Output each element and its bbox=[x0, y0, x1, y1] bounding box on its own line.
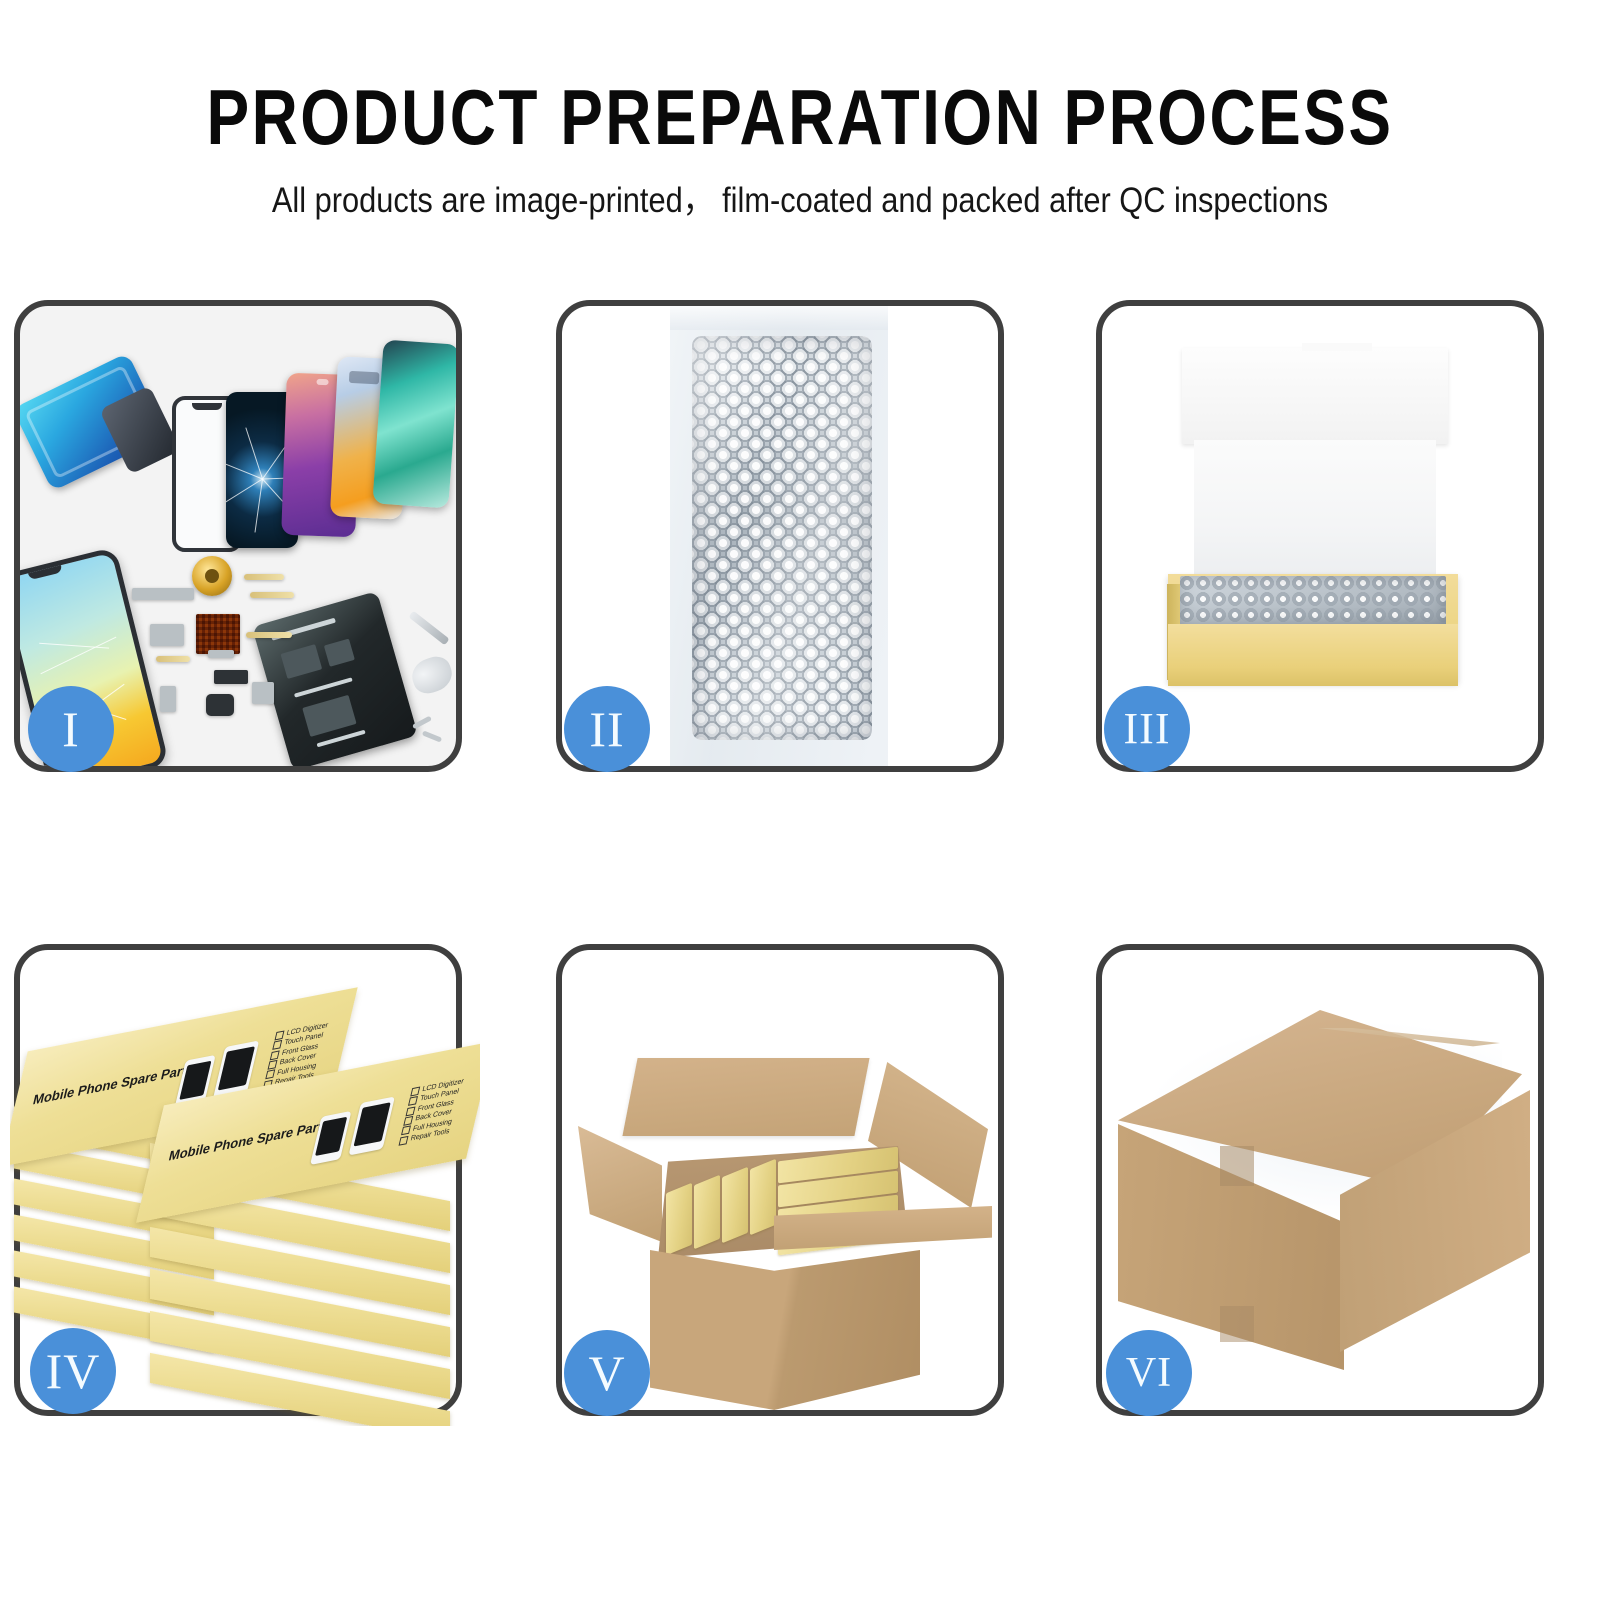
step-1-badge: I bbox=[28, 686, 114, 772]
retail-box-in-carton bbox=[750, 1159, 776, 1236]
retail-box-phone-thumb bbox=[349, 1096, 395, 1155]
page-title: PRODUCT PREPARATION PROCESS bbox=[144, 0, 1456, 158]
page-subtitle: All products are image-printed， film-coa… bbox=[96, 158, 1504, 223]
process-step-3: III bbox=[1096, 286, 1556, 782]
box-front-wall bbox=[1168, 624, 1458, 686]
wireless-coil-part bbox=[192, 556, 232, 596]
retail-box-checklist: LCD Digitizer Touch Panel Front Glass Ba… bbox=[398, 1077, 464, 1147]
pouch-seal bbox=[670, 306, 888, 330]
retail-box-in-carton bbox=[722, 1167, 748, 1244]
carton-left-flap bbox=[578, 1126, 662, 1242]
process-step-4: Mobile Phone Spare Parts LCD Digitizer T… bbox=[14, 930, 474, 1426]
screws-group bbox=[412, 720, 452, 746]
motherboard-part bbox=[252, 591, 418, 766]
retail-box-title: Mobile Phone Spare Parts bbox=[167, 1117, 331, 1164]
box-lid-inner bbox=[1194, 440, 1436, 580]
sim-tray-part bbox=[160, 686, 176, 712]
step-5-badge: V bbox=[564, 1330, 650, 1416]
retail-box-title: Mobile Phone Spare Parts bbox=[32, 1061, 196, 1108]
step-6-badge: VI bbox=[1106, 1330, 1192, 1416]
step-2-badge: II bbox=[564, 686, 650, 772]
antenna-part bbox=[208, 650, 234, 658]
retail-box-in-carton bbox=[666, 1183, 692, 1256]
vibrator-part bbox=[206, 694, 234, 716]
retail-box-in-carton bbox=[694, 1175, 720, 1250]
teal-phone-part bbox=[372, 340, 456, 509]
flex-cable-part-2 bbox=[250, 592, 294, 598]
cleaning-brush-tool bbox=[408, 653, 456, 698]
carton-seam-lower bbox=[1220, 1306, 1254, 1342]
copper-shield-part bbox=[196, 614, 240, 654]
process-step-6: VI bbox=[1096, 930, 1556, 1426]
flex-cable-part-3 bbox=[156, 656, 190, 662]
speaker-mesh-part bbox=[132, 588, 194, 600]
bubble-wrap-sheet bbox=[692, 336, 872, 740]
process-step-1: I bbox=[14, 286, 474, 782]
step-4-badge: IV bbox=[30, 1328, 116, 1414]
process-steps-grid: I II III bbox=[0, 282, 1600, 1482]
carton-seam-upper bbox=[1220, 1146, 1254, 1186]
earpiece-part bbox=[252, 682, 274, 704]
flex-cable-part-1 bbox=[244, 574, 284, 580]
process-step-2: II bbox=[556, 286, 1016, 782]
carton-body bbox=[650, 1250, 920, 1410]
bubble-wrapped-item-in-box bbox=[1180, 576, 1446, 626]
step-3-badge: III bbox=[1104, 686, 1190, 772]
tweezers-tool bbox=[408, 611, 449, 646]
carton-back-flap bbox=[622, 1058, 869, 1136]
box-lid bbox=[1182, 348, 1448, 444]
ic-chip-part bbox=[214, 670, 248, 684]
camera-module-part bbox=[150, 624, 184, 646]
flex-cable-part-4 bbox=[246, 632, 292, 638]
process-step-5: V bbox=[556, 930, 1016, 1426]
page-header: PRODUCT PREPARATION PROCESS All products… bbox=[0, 0, 1600, 223]
